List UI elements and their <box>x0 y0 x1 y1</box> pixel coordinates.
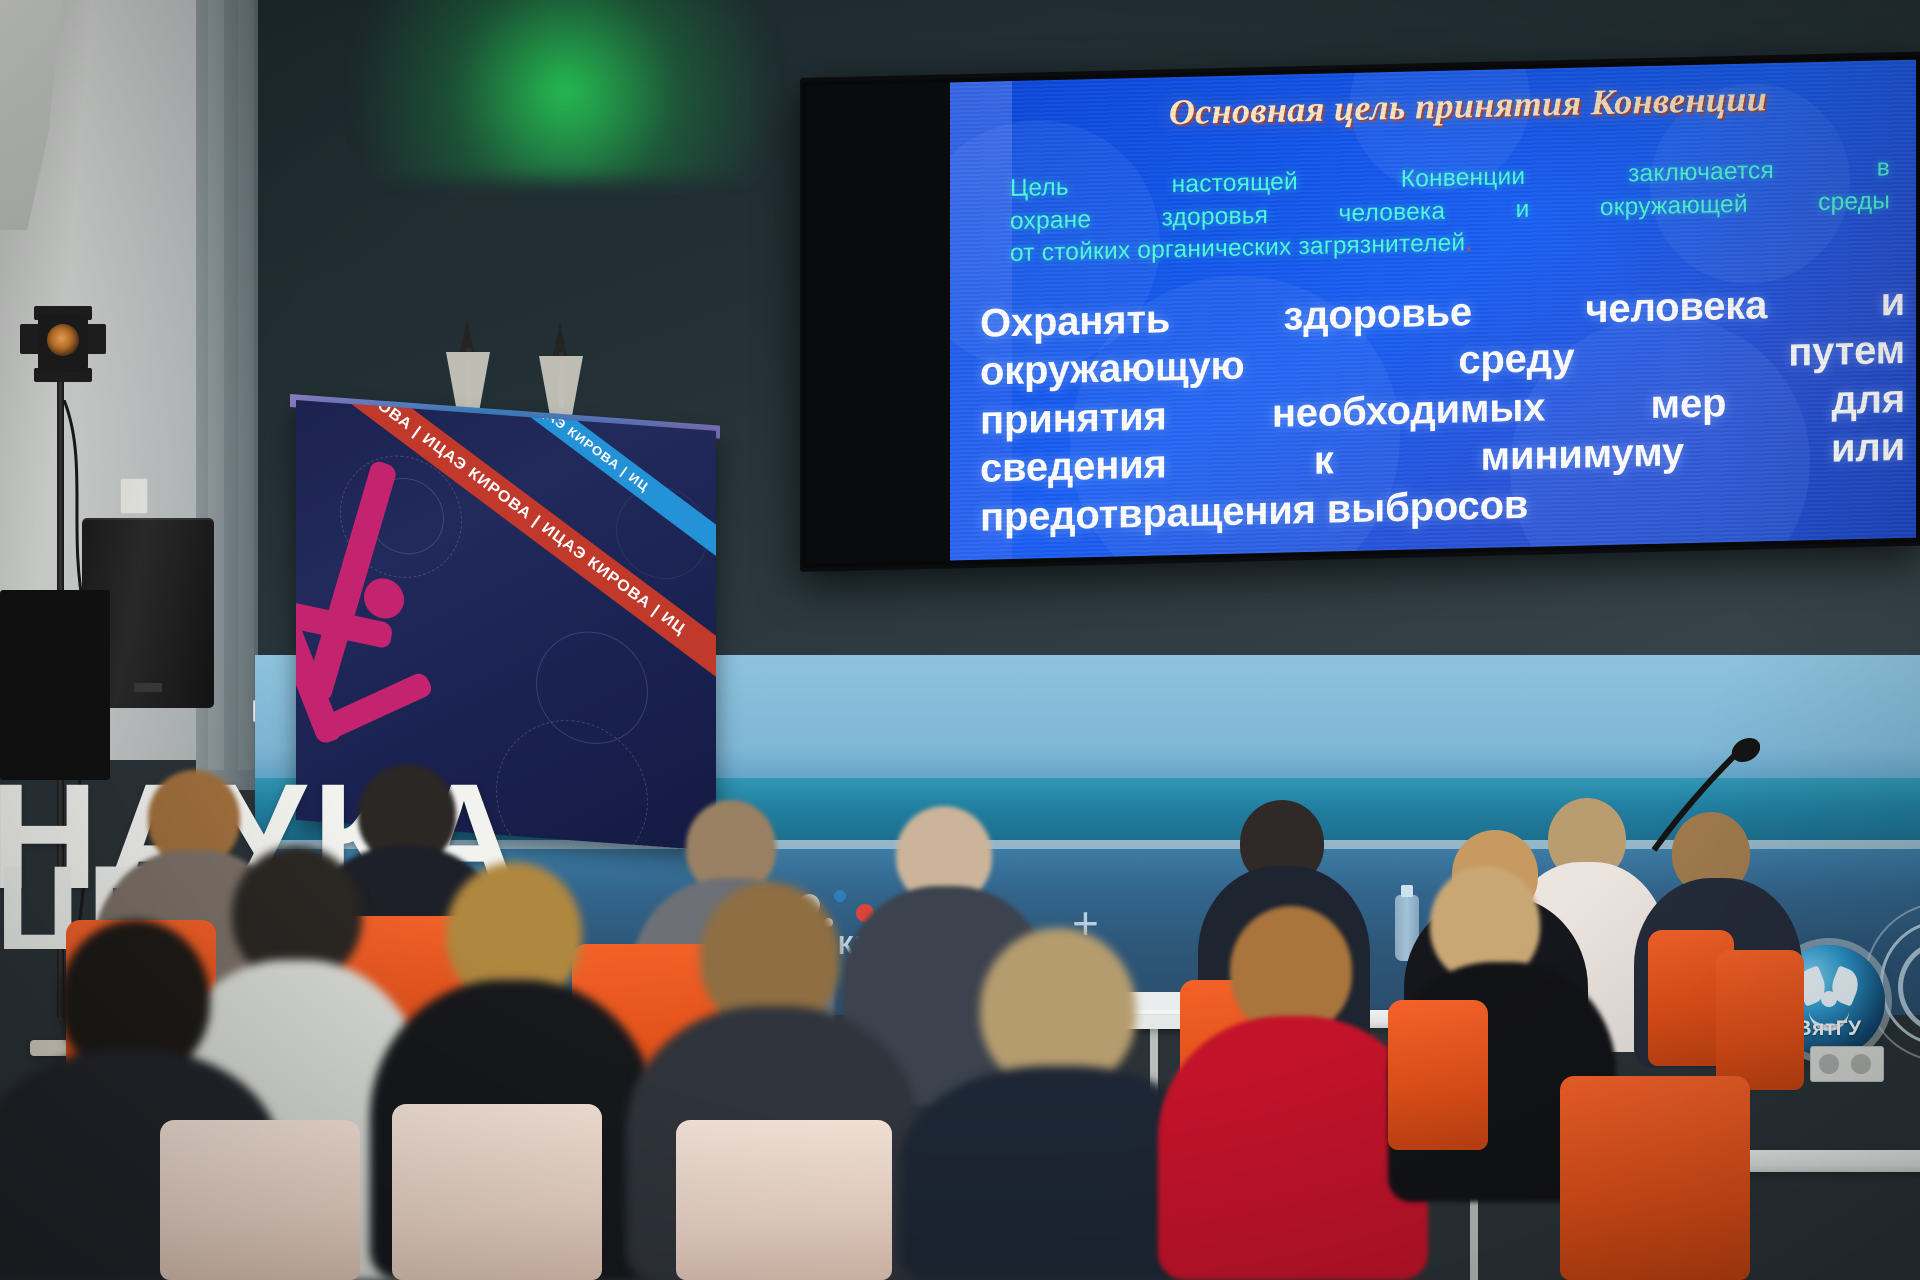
slide-surface: Основная цель принятия Конвенции Цель на… <box>950 60 1916 561</box>
wall-sensor <box>120 478 148 514</box>
chair-cream[interactable] <box>160 1120 360 1280</box>
pillar-strip-2 <box>238 0 254 770</box>
screen-dark-left-panel <box>806 82 952 563</box>
conference-hall-scene: Основная цель принятия Конвенции Цель на… <box>0 0 1920 1280</box>
led-video-wall: Основная цель принятия Конвенции Цель на… <box>800 52 1920 572</box>
chair-cream[interactable] <box>392 1104 602 1280</box>
chair-orange[interactable] <box>1560 1076 1750 1280</box>
chair-orange[interactable] <box>1388 1000 1488 1150</box>
green-light-glow <box>355 0 775 180</box>
flag-finial-2 <box>553 322 567 356</box>
wall-socket <box>1810 1046 1884 1082</box>
flag-finial-1 <box>460 318 474 352</box>
chair-cream[interactable] <box>676 1120 892 1280</box>
vyatgu-leaf-mark <box>1799 969 1859 1015</box>
banner-atom-letter <box>296 449 482 786</box>
led-scanlines <box>950 60 1916 561</box>
chair-orange[interactable] <box>1716 950 1804 1090</box>
fresnel-spotlight <box>20 306 106 380</box>
